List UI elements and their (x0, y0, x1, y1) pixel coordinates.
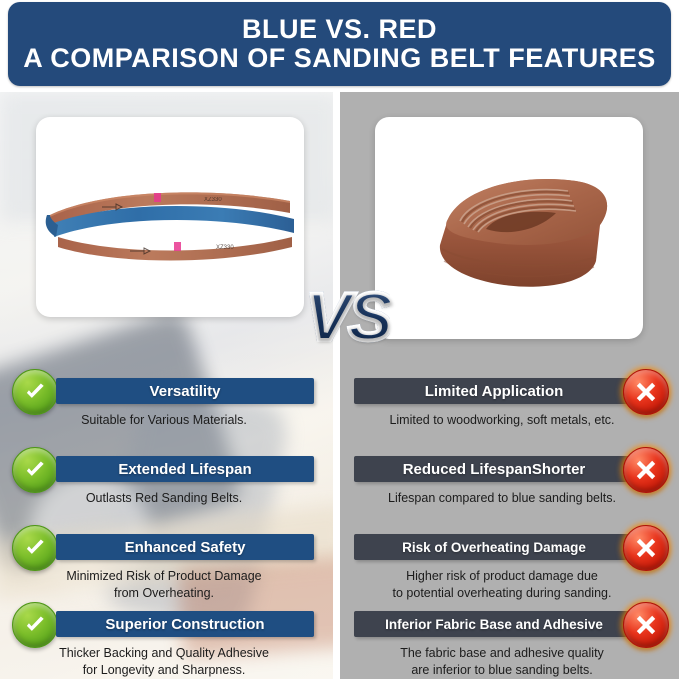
feature-description: Outlasts Red Sanding Belts. (14, 490, 314, 507)
feature-description: The fabric base and adhesive quality are… (352, 645, 652, 678)
right-panel-red: Limited Application Limited to woodworki… (340, 92, 679, 679)
vs-divider: VS (303, 277, 393, 357)
feature-title-bar: Limited Application (354, 378, 634, 404)
x-icon (623, 369, 669, 415)
x-icon (623, 447, 669, 493)
title-banner: BLUE VS. RED A COMPARISON OF SANDING BEL… (8, 2, 671, 86)
feature-description: Limited to woodworking, soft metals, etc… (352, 412, 652, 429)
blue-sanding-belt-image: XZ330 XZ330 (44, 179, 296, 265)
blue-belt-product-card: XZ330 XZ330 (36, 117, 304, 317)
feature-title: Versatility (150, 383, 221, 400)
x-icon (623, 525, 669, 571)
feature-title-bar: Reduced LifespanShorter (354, 456, 634, 482)
check-icon (12, 447, 58, 493)
feature-description: Thicker Backing and Quality Adhesive for… (14, 645, 314, 678)
feature-description: Minimized Risk of Product Damage from Ov… (14, 568, 314, 601)
feature-title-bar: Extended Lifespan (56, 456, 314, 482)
feature-title: Reduced LifespanShorter (403, 461, 586, 478)
svg-text:XZ330: XZ330 (204, 197, 222, 203)
x-icon (623, 602, 669, 648)
left-panel-blue: XZ330 XZ330 (0, 92, 333, 679)
feature-description: Suitable for Various Materials. (14, 412, 314, 429)
feature-title-bar: Enhanced Safety (56, 534, 314, 560)
svg-text:XZ330: XZ330 (216, 245, 234, 251)
infographic-page: BLUE VS. RED A COMPARISON OF SANDING BEL… (0, 0, 679, 679)
check-icon (12, 525, 58, 571)
title-line-1: BLUE VS. RED (242, 15, 437, 44)
feature-description: Higher risk of product damage due to pot… (352, 568, 652, 601)
feature-title: Enhanced Safety (125, 539, 246, 556)
red-belt-product-card (375, 117, 643, 339)
feature-title: Extended Lifespan (118, 461, 251, 478)
feature-title: Inferior Fabric Base and Adhesive (385, 617, 603, 632)
title-line-2: A COMPARISON OF SANDING BELT FEATURES (23, 44, 656, 73)
check-icon (12, 602, 58, 648)
comparison-panels: XZ330 XZ330 (0, 92, 679, 679)
feature-title: Superior Construction (105, 616, 264, 633)
vs-label: VS (306, 278, 391, 356)
feature-title-bar: Versatility (56, 378, 314, 404)
feature-title: Risk of Overheating Damage (402, 540, 586, 555)
red-sanding-belt-stack-image (400, 157, 620, 302)
feature-description: Lifespan compared to blue sanding belts. (352, 490, 652, 507)
feature-title: Limited Application (425, 383, 564, 400)
feature-title-bar: Superior Construction (56, 611, 314, 637)
feature-title-bar: Inferior Fabric Base and Adhesive (354, 611, 634, 637)
check-icon (12, 369, 58, 415)
feature-title-bar: Risk of Overheating Damage (354, 534, 634, 560)
